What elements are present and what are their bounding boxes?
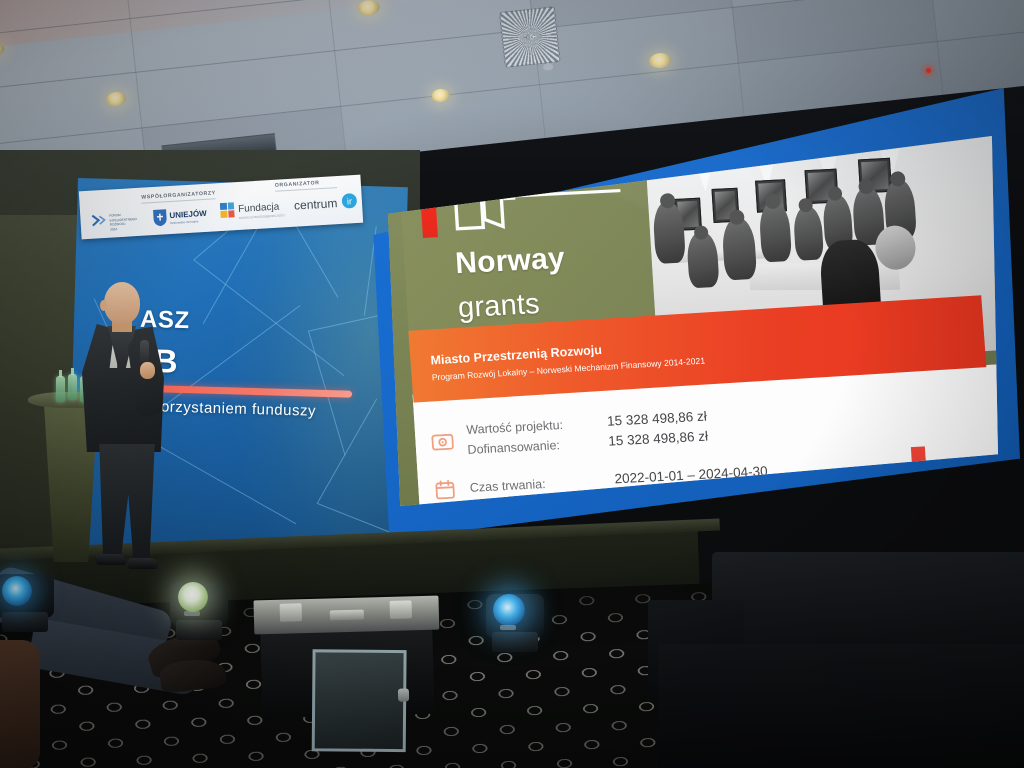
fact-value-1: 15 328 498,86 zł (608, 429, 709, 449)
uniejow-shield-icon (152, 208, 168, 232)
case-handle[interactable] (330, 610, 364, 621)
case-latch (390, 600, 412, 619)
projection-screen: Norway grants (370, 88, 1020, 540)
status-led (926, 68, 931, 73)
downlight (357, 0, 380, 16)
norway-grants-mark-icon (451, 160, 626, 234)
water-bottle (56, 376, 65, 402)
centrum-logo-label: centrum (294, 196, 338, 213)
light-lens (178, 582, 208, 612)
flight-case (253, 596, 441, 719)
air-diffuser (499, 6, 561, 68)
case-latch (280, 603, 302, 622)
moving-head-light (168, 574, 230, 640)
case-knob[interactable] (398, 688, 409, 701)
audience-seating (648, 540, 1024, 768)
conference-stage-photo: ASZ JB wykorzystaniem funduszy WSPÓŁORGA… (0, 0, 1024, 768)
uniejow-logo-label: UNIEJÓW (169, 209, 207, 220)
speaker-presenter (78, 282, 190, 564)
audience-body (0, 640, 40, 768)
presentation-slide: Norway grants (388, 136, 998, 506)
centrum-badge-icon: ir (341, 193, 357, 214)
moving-head-light (0, 566, 56, 632)
zabrze-tagline: w sercu Śląska (948, 483, 985, 491)
water-bottle (68, 374, 77, 400)
light-lens (493, 594, 525, 626)
downlight (648, 52, 671, 69)
uniejow-logo-sublabel: Uzdrowisko Termalne (170, 219, 199, 225)
norway-grants-line2: grants (457, 288, 541, 325)
norway-grants-line1: Norway (454, 241, 566, 281)
sponsor-caption-organizer: ORGANIZATOR (275, 180, 320, 189)
fundacja-logo-icon (220, 202, 236, 224)
forum-logo-label: FORUMINTELIGENTNEGOROZWOJU2024 (109, 212, 137, 232)
light-lens (2, 576, 32, 606)
smoke-detector (543, 63, 554, 71)
screen-surface: Norway grants (388, 136, 998, 506)
calendar-icon (435, 480, 455, 505)
banknote-icon (432, 434, 455, 456)
forum-logo-icon (90, 212, 107, 234)
fact-label-2: Czas trwania: (469, 477, 546, 495)
svg-text:ir: ir (347, 196, 353, 206)
fact-label-0: Wartość projektu: (466, 418, 564, 437)
downlight (105, 91, 126, 107)
speaker-head (104, 282, 140, 324)
moving-head-light (484, 586, 546, 652)
fact-label-1: Dofinansowanie: (467, 438, 560, 457)
case-panel (312, 649, 407, 752)
